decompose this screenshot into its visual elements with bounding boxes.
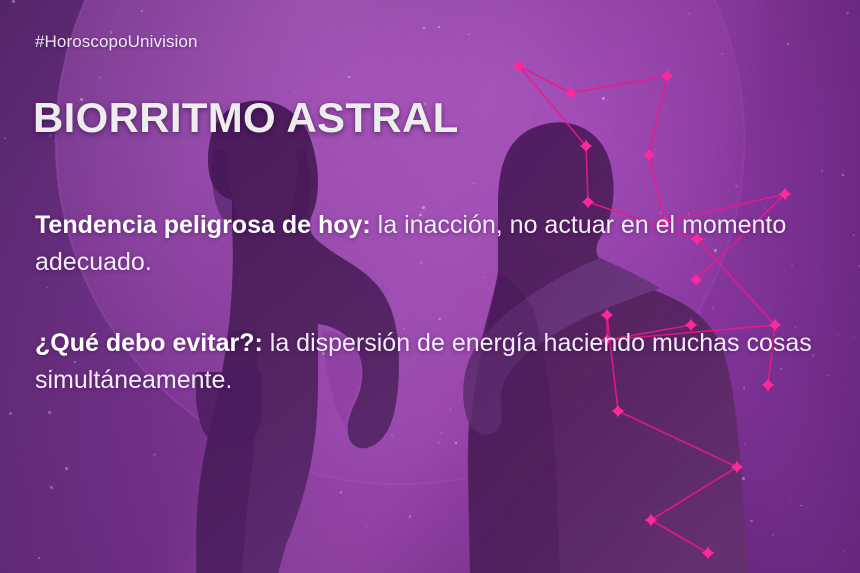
paragraph-evitar: ¿Qué debo evitar?: la dispersión de ener… bbox=[35, 325, 840, 399]
hashtag-label: #HoroscopoUnivision bbox=[35, 32, 198, 52]
page-title: BIORRITMO ASTRAL bbox=[33, 96, 459, 140]
paragraph-2-label: ¿Qué debo evitar?: bbox=[35, 329, 263, 357]
paragraph-tendencia: Tendencia peligrosa de hoy: la inacción,… bbox=[35, 207, 840, 281]
content-layer: #HoroscopoUnivision BIORRITMO ASTRAL Ten… bbox=[0, 0, 860, 573]
horoscope-card: #HoroscopoUnivision BIORRITMO ASTRAL Ten… bbox=[0, 0, 860, 573]
paragraph-1-label: Tendencia peligrosa de hoy: bbox=[35, 211, 371, 239]
